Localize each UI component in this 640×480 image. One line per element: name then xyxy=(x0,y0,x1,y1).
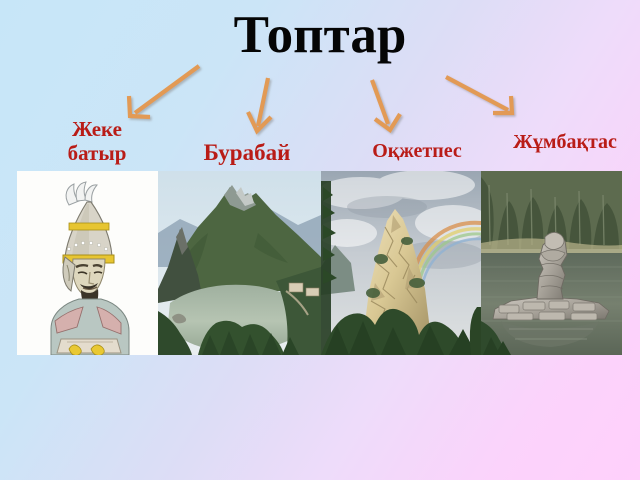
group-label-burabay: Бурабай xyxy=(182,140,312,166)
photo-kazakh-batyr-portrait xyxy=(17,171,158,355)
photo-zhumbaktas-rock-lake xyxy=(481,171,622,355)
photo-okzhetpes-rock-rainbow xyxy=(321,171,481,355)
group-label-zhumbaktas: Жұмбақтас xyxy=(492,131,638,153)
page-title: Топтар xyxy=(0,8,640,64)
arrow-to-zhumbaktas-icon xyxy=(446,77,512,113)
arrow-to-okzhetpes-icon xyxy=(372,80,400,130)
arrow-to-burabay-icon xyxy=(248,78,271,131)
photo-burabay-lake-mountains xyxy=(158,171,321,355)
photo-strip xyxy=(17,171,622,355)
group-label-okzhetpes: Оқжетпес xyxy=(352,140,482,162)
slide-canvas: Топтар Жеке батыр xyxy=(0,0,640,480)
group-label-zheke-batyr: Жеке батыр xyxy=(42,118,152,165)
arrow-to-zheke-batyr-icon xyxy=(129,66,199,117)
